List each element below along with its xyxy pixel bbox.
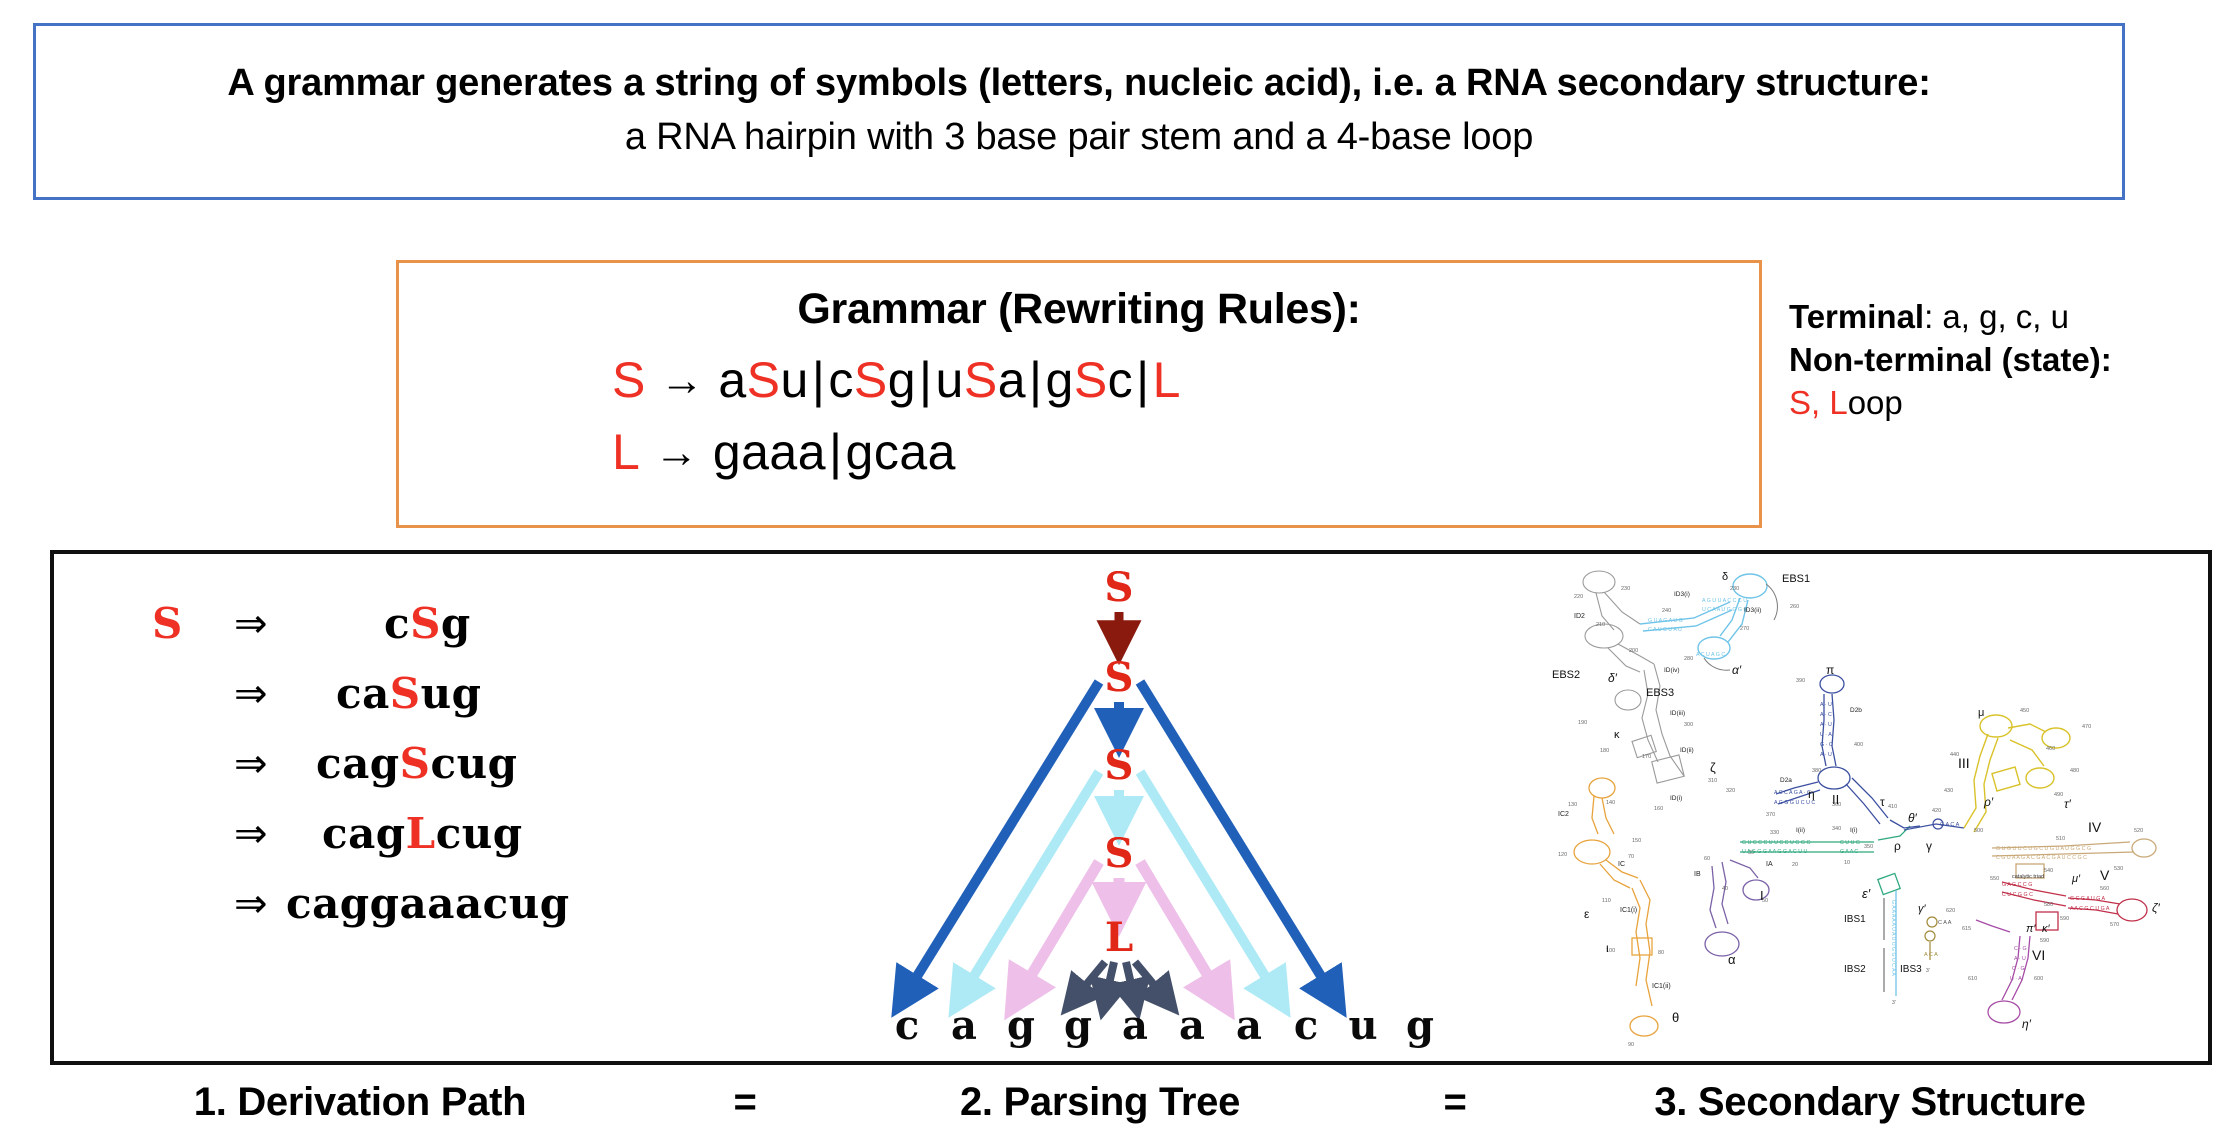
- edge-l-to-leaf-a3: [1135, 962, 1164, 997]
- svg-text:θ′: θ′: [1908, 811, 1918, 825]
- rna-structure-svg: 220 230 210 200 ID2 G U A G A U G C A U …: [1544, 560, 2204, 1060]
- symbol-legend: Terminal: a, g, c, u Non-terminal (state…: [1789, 296, 2209, 425]
- tree-leaf-4: g: [1056, 1002, 1100, 1049]
- svg-text:θ: θ: [1672, 1010, 1679, 1025]
- svg-text:G · C: G · C: [1820, 742, 1833, 748]
- rule-s-alt-5: L: [1153, 352, 1181, 408]
- svg-text:410: 410: [1888, 804, 1897, 810]
- svg-text:320: 320: [1726, 788, 1735, 794]
- svg-text:120: 120: [1558, 852, 1567, 858]
- tree-leaf-6: a: [1170, 1002, 1214, 1049]
- svg-text:220: 220: [1574, 594, 1583, 600]
- svg-text:200: 200: [1629, 648, 1638, 654]
- derivation-rhs-4: cagLcug: [322, 809, 523, 858]
- svg-text:490: 490: [2054, 792, 2063, 798]
- footer-equals-2: =: [1380, 1080, 1530, 1125]
- edge-l-to-leaf-g: [1076, 962, 1105, 997]
- grammar-rule-l: L→gaaa|gcaa: [612, 423, 956, 481]
- footer-item-derivation: 1. Derivation Path: [50, 1080, 670, 1125]
- svg-text:A · U: A · U: [1820, 752, 1832, 758]
- derivation-rhs-3: cagScug: [316, 739, 517, 788]
- svg-text:II: II: [1832, 792, 1839, 807]
- svg-text:δ: δ: [1722, 571, 1728, 583]
- tree-leaf-1: c: [885, 1002, 929, 1049]
- svg-text:615: 615: [1962, 926, 1971, 932]
- svg-text:μ: μ: [1978, 707, 1984, 719]
- rule-s-sep-4: |: [1133, 352, 1153, 408]
- tree-leaf-7: a: [1227, 1002, 1271, 1049]
- svg-text:540: 540: [2044, 868, 2053, 874]
- rule-s-sep-3: |: [1026, 352, 1046, 408]
- svg-text:IC1(i): IC1(i): [1620, 907, 1637, 914]
- svg-text:ρ′: ρ′: [1983, 795, 1994, 809]
- svg-text:130: 130: [1568, 802, 1577, 808]
- svg-text:400: 400: [1854, 742, 1863, 748]
- svg-text:A · C: A · C: [1820, 712, 1832, 718]
- derivation-rhs-2: caSug: [336, 669, 482, 718]
- footer-equivalence: 1. Derivation Path = 2. Parsing Tree = 3…: [50, 1072, 2212, 1132]
- svg-text:π: π: [1826, 663, 1834, 677]
- svg-text:300: 300: [1684, 722, 1693, 728]
- svg-text:140: 140: [1606, 800, 1615, 806]
- svg-text:C A A: C A A: [1938, 920, 1952, 926]
- svg-text:C · G: C · G: [2012, 966, 2025, 972]
- svg-text:IBS2: IBS2: [1844, 964, 1866, 975]
- rule-s-arrow-icon: →: [646, 356, 719, 406]
- svg-text:560: 560: [2100, 886, 2109, 892]
- svg-text:330: 330: [1770, 830, 1779, 836]
- svg-text:U C A A U G G G G: U C A A U G G G G: [1702, 607, 1748, 613]
- svg-text:530: 530: [2114, 866, 2123, 872]
- svg-text:620: 620: [1946, 908, 1955, 914]
- legend-values-black: oop: [1848, 384, 1903, 421]
- parsing-tree: S S S S L c a g g a a a c u g: [754, 554, 1474, 1059]
- svg-text:260: 260: [1790, 604, 1799, 610]
- rule-l-sep-1: |: [826, 424, 846, 480]
- svg-text:10: 10: [1844, 860, 1850, 866]
- rule-l-arrow-icon: →: [640, 428, 713, 478]
- tree-leaf-3: g: [999, 1002, 1043, 1049]
- edge-l-to-leaf-a2: [1126, 962, 1134, 997]
- svg-text:280: 280: [1684, 656, 1693, 662]
- svg-text:ID(ii): ID(ii): [1680, 747, 1694, 754]
- rule-s-lhs: S: [612, 352, 646, 408]
- svg-text:470: 470: [2082, 724, 2091, 730]
- svg-text:A C A: A C A: [1924, 952, 1938, 958]
- svg-text:IC2: IC2: [1558, 811, 1569, 818]
- svg-text:ID3(i): ID3(i): [1674, 591, 1690, 598]
- svg-text:η′: η′: [2022, 1017, 2032, 1031]
- svg-text:G A A A A A U A U U G G U C A: G A A A A A U A U U G G U C A A: [1890, 900, 1896, 976]
- svg-text:EBS1: EBS1: [1782, 573, 1810, 585]
- svg-text:600: 600: [2034, 976, 2043, 982]
- main-panel: S ⇒ cSg ⇒ caSug ⇒ cagScug ⇒ cagLcug ⇒ ca…: [50, 550, 2212, 1065]
- svg-text:π′: π′: [2026, 923, 2036, 935]
- svg-text:A · U: A · U: [2014, 956, 2026, 962]
- tree-node-s-4: S: [1089, 830, 1149, 877]
- svg-text:610: 610: [1968, 976, 1977, 982]
- footer-item-parsing-tree: 2. Parsing Tree: [820, 1080, 1380, 1125]
- svg-text:η: η: [1808, 787, 1815, 801]
- svg-text:III: III: [1958, 755, 1970, 771]
- svg-text:230: 230: [1730, 586, 1739, 592]
- svg-text:ID3(ii): ID3(ii): [1744, 607, 1761, 614]
- svg-text:V: V: [2100, 867, 2110, 883]
- derivation-arrow-icon-2: ⇒: [234, 671, 268, 717]
- svg-text:catalytic triad: catalytic triad: [2012, 874, 2044, 880]
- rule-l-alt-1: gaaa: [713, 424, 826, 480]
- svg-text:A C U A G C: A C U A G C: [1696, 652, 1725, 658]
- svg-text:340: 340: [1832, 826, 1841, 832]
- svg-text:U · A: U · A: [2010, 976, 2022, 982]
- derivation-arrow-icon-5: ⇒: [234, 881, 268, 927]
- svg-text:α: α: [1728, 952, 1736, 967]
- svg-text:I: I: [1760, 888, 1764, 903]
- rule-s-alt-1: aSu: [718, 352, 808, 408]
- edge-s3-to-leaf-a: [963, 772, 1099, 994]
- svg-text:390: 390: [1796, 678, 1805, 684]
- svg-text:ζ: ζ: [1710, 760, 1716, 775]
- svg-text:IBS1: IBS1: [1844, 914, 1866, 925]
- svg-text:ζ′: ζ′: [2152, 901, 2161, 915]
- svg-text:VI: VI: [2032, 947, 2045, 963]
- svg-text:450: 450: [2020, 708, 2029, 714]
- grammar-rule-s: S→aSu|cSg|uSa|gSc|L: [612, 351, 1181, 409]
- derivation-step-2: ⇒ caSug: [94, 669, 714, 739]
- svg-text:EBS3: EBS3: [1646, 687, 1674, 699]
- tree-node-s-3: S: [1089, 742, 1149, 789]
- svg-text:C A U C U A U: C A U C U A U: [1648, 627, 1682, 633]
- svg-text:G A A C: G A A C: [1840, 849, 1858, 855]
- svg-text:370: 370: [1766, 812, 1775, 818]
- title-box: A grammar generates a string of symbols …: [33, 23, 2125, 200]
- svg-text:350: 350: [1864, 844, 1873, 850]
- svg-text:τ′: τ′: [2064, 797, 2071, 811]
- svg-text:EBS2: EBS2: [1552, 669, 1580, 681]
- svg-text:IV: IV: [2088, 819, 2102, 835]
- rule-s-sep-2: |: [916, 352, 936, 408]
- svg-text:80: 80: [1658, 950, 1664, 956]
- rule-l-alt-2: gcaa: [846, 424, 956, 480]
- derivation-path: S ⇒ cSg ⇒ caSug ⇒ cagScug ⇒ cagLcug ⇒ ca…: [94, 599, 714, 949]
- svg-text:3′: 3′: [1892, 1000, 1896, 1006]
- derivation-step-5: ⇒ caggaaacug: [94, 879, 714, 949]
- svg-text:160: 160: [1654, 806, 1663, 812]
- derivation-step-3: ⇒ cagScug: [94, 739, 714, 809]
- legend-nonterminal-values: S, Loop: [1789, 382, 2209, 425]
- svg-text:550: 550: [1990, 876, 1999, 882]
- svg-text:IB: IB: [1694, 871, 1701, 878]
- footer-equals-1: =: [670, 1080, 820, 1125]
- tree-leaf-5: a: [1113, 1002, 1157, 1049]
- svg-text:G C G A U G A: G C G A U G A: [2070, 896, 2105, 902]
- parsing-tree-edges: [754, 554, 1474, 1059]
- legend-nonterminal-label: Non-terminal: [1789, 341, 1993, 378]
- svg-text:590: 590: [2060, 916, 2069, 922]
- derivation-start-symbol: S: [152, 599, 182, 648]
- svg-text:I(ii): I(ii): [1796, 827, 1805, 834]
- edge-s2-to-leaf-c: [906, 682, 1099, 994]
- svg-text:60: 60: [1704, 856, 1710, 862]
- svg-text:A G U U A C C C U: A G U U A C C C U: [1702, 598, 1747, 604]
- title-line-2: a RNA hairpin with 3 base pair stem and …: [625, 112, 1533, 163]
- svg-text:70: 70: [1628, 854, 1634, 860]
- edge-s3-to-leaf-u: [1140, 772, 1276, 994]
- svg-text:G U C C C U U C C U G G G: G U C C C U U C C U G G G: [1742, 840, 1811, 846]
- svg-text:420: 420: [1932, 808, 1941, 814]
- svg-text:μ′: μ′: [2071, 873, 2081, 885]
- tree-node-l: L: [1089, 914, 1149, 961]
- derivation-arrow-icon-1: ⇒: [234, 601, 268, 647]
- legend-terminal-label: Terminal: [1789, 298, 1924, 335]
- svg-text:I(i): I(i): [1850, 827, 1858, 834]
- svg-text:170: 170: [1642, 754, 1651, 760]
- svg-text:ε′: ε′: [1862, 886, 1871, 901]
- legend-values-red: S, L: [1789, 384, 1848, 421]
- svg-text:ID2: ID2: [1574, 613, 1585, 620]
- svg-text:150: 150: [1632, 838, 1641, 844]
- svg-text:ι: ι: [1606, 941, 1609, 955]
- svg-text:C U U G: C U U G: [1840, 840, 1860, 846]
- secondary-structure-diagram: 220 230 210 200 ID2 G U A G A U G C A U …: [1544, 560, 2204, 1060]
- tree-leaf-2: a: [942, 1002, 986, 1049]
- footer-item-structure: 3. Secondary Structure: [1530, 1080, 2210, 1125]
- svg-text:τ: τ: [1880, 795, 1885, 809]
- svg-text:570: 570: [2110, 922, 2119, 928]
- svg-text:IBS3: IBS3: [1900, 964, 1922, 975]
- svg-text:580: 580: [2044, 902, 2053, 908]
- rule-s-alt-2: cSg: [828, 352, 916, 408]
- svg-text:500: 500: [1974, 828, 1983, 834]
- svg-text:C G U A A G A C G A C G A U C: C G U A A G A C G A C G A U C C G C: [1996, 855, 2087, 861]
- svg-text:510: 510: [2056, 836, 2065, 842]
- derivation-step-4: ⇒ cagLcug: [94, 809, 714, 879]
- svg-text:480: 480: [2070, 768, 2079, 774]
- svg-text:γ: γ: [1926, 839, 1932, 853]
- svg-text:ID(iv): ID(iv): [1664, 667, 1680, 674]
- svg-text:IC1(ii): IC1(ii): [1652, 983, 1671, 990]
- tree-leaf-9: u: [1341, 1002, 1385, 1049]
- svg-text:U · A: U · A: [1820, 732, 1832, 738]
- svg-text:C · G: C · G: [2014, 946, 2027, 952]
- svg-text:3′: 3′: [1926, 968, 1930, 974]
- svg-text:IA: IA: [1766, 861, 1773, 868]
- derivation-step-1: S ⇒ cSg: [94, 599, 714, 669]
- derivation-arrow-icon-3: ⇒: [234, 741, 268, 787]
- tree-node-s-root: S: [1089, 564, 1149, 611]
- svg-text:A · U: A · U: [1820, 722, 1832, 728]
- svg-text:U A G G G A A G G A C U U: U A G G G A A G G A C U U: [1742, 849, 1808, 855]
- svg-text:ε: ε: [1584, 907, 1590, 921]
- svg-text:ID(i): ID(i): [1670, 795, 1682, 802]
- svg-text:G U A G A U G: G U A G A U G: [1648, 618, 1683, 624]
- svg-text:IC: IC: [1618, 861, 1625, 868]
- svg-text:20: 20: [1792, 862, 1798, 868]
- rule-s-alt-3: uSa: [936, 352, 1026, 408]
- svg-text:430: 430: [1944, 788, 1953, 794]
- edge-s2-to-leaf-g: [1140, 682, 1332, 994]
- svg-text:κ′: κ′: [2042, 923, 2051, 935]
- rule-s-sep-1: |: [809, 352, 829, 408]
- derivation-rhs-5: caggaaacug: [286, 879, 570, 928]
- svg-text:590: 590: [2040, 938, 2049, 944]
- svg-text:γ′: γ′: [1918, 903, 1927, 915]
- svg-text:270: 270: [1740, 626, 1749, 632]
- svg-text:A A C G C U G A: A A C G C U G A: [2070, 906, 2110, 912]
- svg-text:190: 190: [1578, 720, 1587, 726]
- rule-l-lhs: L: [612, 424, 640, 480]
- legend-nonterminal-line: Non-terminal (state):: [1789, 339, 2209, 382]
- legend-terminal-line: Terminal: a, g, c, u: [1789, 296, 2209, 339]
- svg-text:A · U: A · U: [1820, 702, 1832, 708]
- svg-text:90: 90: [1628, 1042, 1634, 1048]
- svg-text:A C C A G A · G: A C C A G A · G: [1774, 790, 1811, 796]
- tree-leaf-8: c: [1284, 1002, 1328, 1049]
- svg-text:G A G C C G: G A G C C G: [2002, 882, 2032, 888]
- svg-text:240: 240: [1662, 608, 1671, 614]
- svg-text:C U C G G C: C U C G G C: [2002, 892, 2033, 898]
- svg-text:D2b: D2b: [1850, 707, 1862, 714]
- grammar-heading: Grammar (Rewriting Rules):: [399, 285, 1759, 334]
- edge-l-to-leaf-a1: [1106, 962, 1114, 997]
- svg-text:180: 180: [1600, 748, 1609, 754]
- tree-node-s-2: S: [1089, 654, 1149, 701]
- legend-terminal-values: : a, g, c, u: [1924, 298, 2069, 335]
- svg-text:520: 520: [2134, 828, 2143, 834]
- svg-text:230: 230: [1621, 586, 1630, 592]
- svg-text:380: 380: [1812, 768, 1821, 774]
- svg-text:460: 460: [2046, 746, 2055, 752]
- title-line-1: A grammar generates a string of symbols …: [227, 60, 1930, 108]
- tree-leaf-10: g: [1398, 1002, 1442, 1049]
- legend-nonterminal-paren: (state):: [1993, 341, 2112, 378]
- svg-text:κ: κ: [1614, 729, 1620, 741]
- svg-text:G U G U U C U G C U G U A U G: G U G U U C U G C U G U A U G G C G: [1996, 846, 2091, 852]
- rule-s-alt-4: gSc: [1046, 352, 1134, 408]
- derivation-arrow-icon-4: ⇒: [234, 811, 268, 857]
- grammar-box: Grammar (Rewriting Rules): S→aSu|cSg|uSa…: [396, 260, 1762, 528]
- svg-text:ID(iii): ID(iii): [1670, 710, 1685, 717]
- svg-text:40: 40: [1722, 886, 1728, 892]
- svg-text:110: 110: [1602, 898, 1611, 904]
- svg-text:α′: α′: [1732, 663, 1742, 677]
- svg-text:D2a: D2a: [1780, 777, 1792, 784]
- svg-text:ρ: ρ: [1894, 839, 1901, 853]
- svg-text:310: 310: [1708, 778, 1717, 784]
- svg-text:δ′: δ′: [1608, 671, 1618, 685]
- svg-text:G A C A: G A C A: [1940, 822, 1960, 828]
- derivation-rhs-1: cSg: [384, 599, 471, 648]
- svg-text:210: 210: [1596, 622, 1605, 628]
